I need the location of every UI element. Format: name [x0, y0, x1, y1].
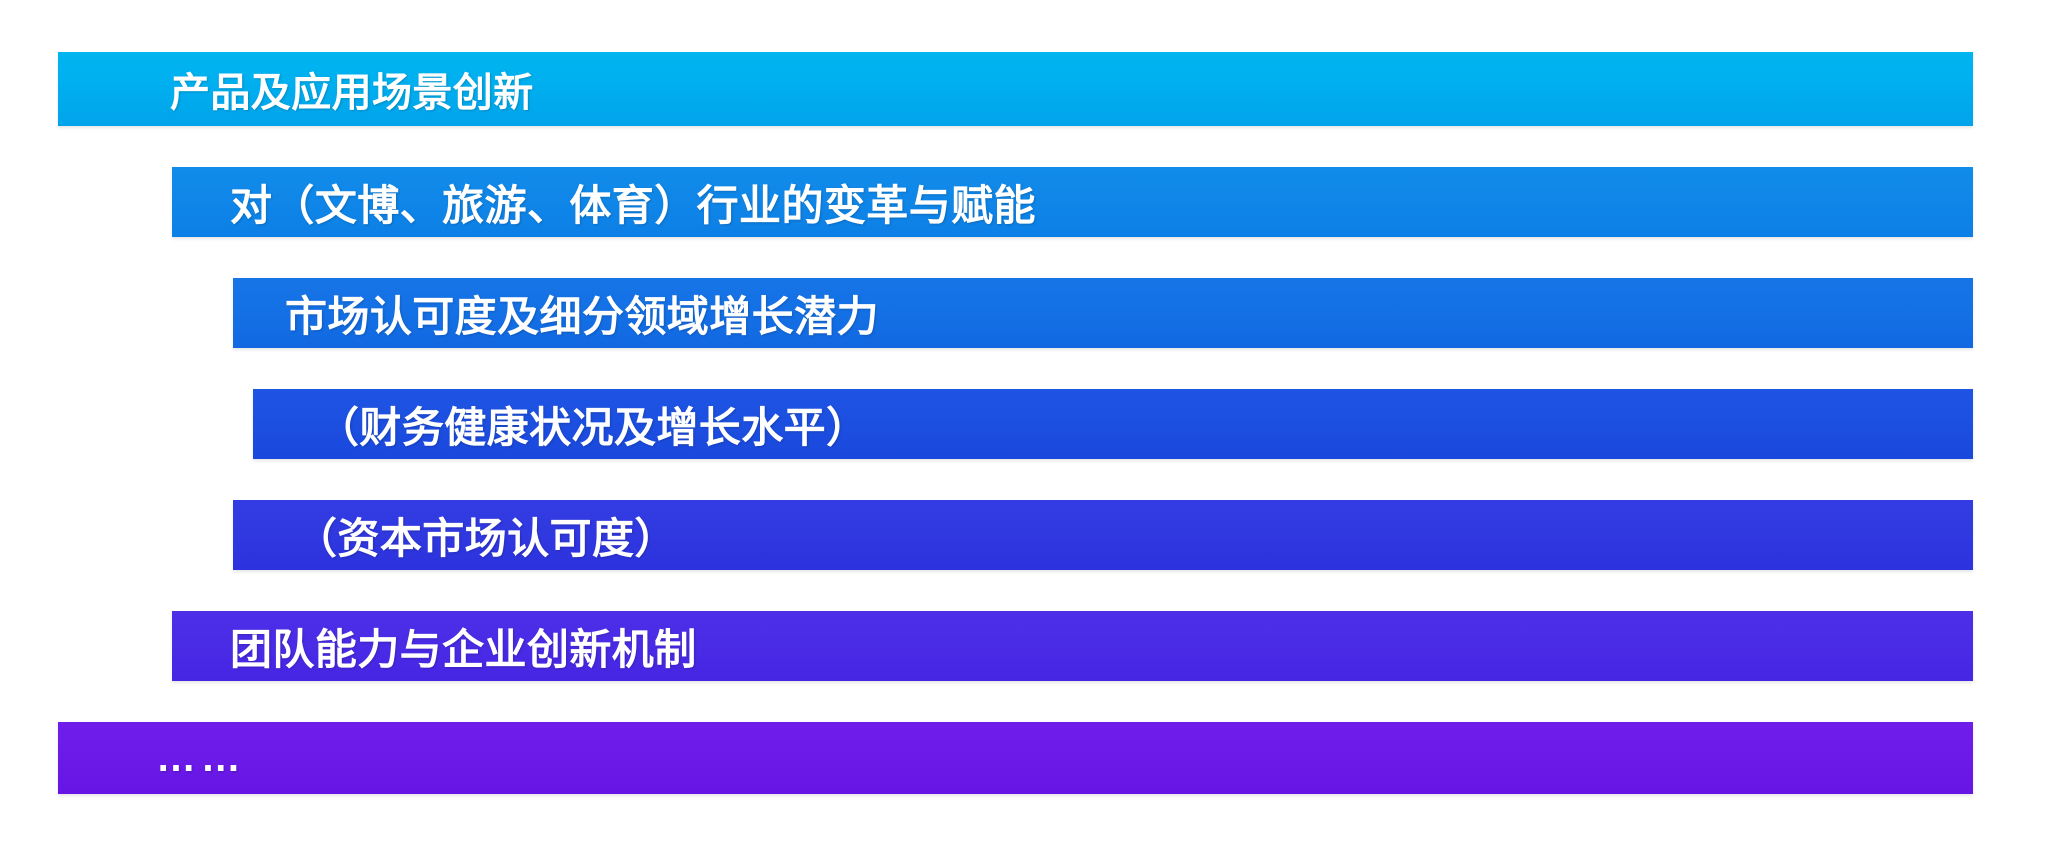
bar-row-1[interactable]: 产品及应用场景创新 — [58, 52, 1973, 126]
bar-label-4: （财务健康状况及增长水平） — [253, 394, 868, 455]
bar-label-3: 市场认可度及细分领域增长潜力 — [233, 283, 879, 344]
bar-label-1: 产品及应用场景创新 — [58, 60, 534, 118]
bar-row-3[interactable]: 市场认可度及细分领域增长潜力 — [233, 278, 1973, 348]
bar-label-5: （资本市场认可度） — [233, 505, 677, 566]
bar-row-7[interactable]: …… — [58, 722, 1973, 794]
bar-row-6[interactable]: 团队能力与企业创新机制 — [172, 611, 1973, 681]
bar-label-2: 对（文博、旅游、体育）行业的变革与赋能 — [172, 172, 1036, 233]
bar-label-7: …… — [58, 736, 246, 781]
bar-label-6: 团队能力与企业创新机制 — [172, 616, 697, 677]
bar-row-5[interactable]: （资本市场认可度） — [233, 500, 1973, 570]
bar-row-2[interactable]: 对（文博、旅游、体育）行业的变革与赋能 — [172, 167, 1973, 237]
slide-canvas: 产品及应用场景创新 对（文博、旅游、体育）行业的变革与赋能 市场认可度及细分领域… — [0, 0, 2048, 857]
bar-row-4[interactable]: （财务健康状况及增长水平） — [253, 389, 1973, 459]
